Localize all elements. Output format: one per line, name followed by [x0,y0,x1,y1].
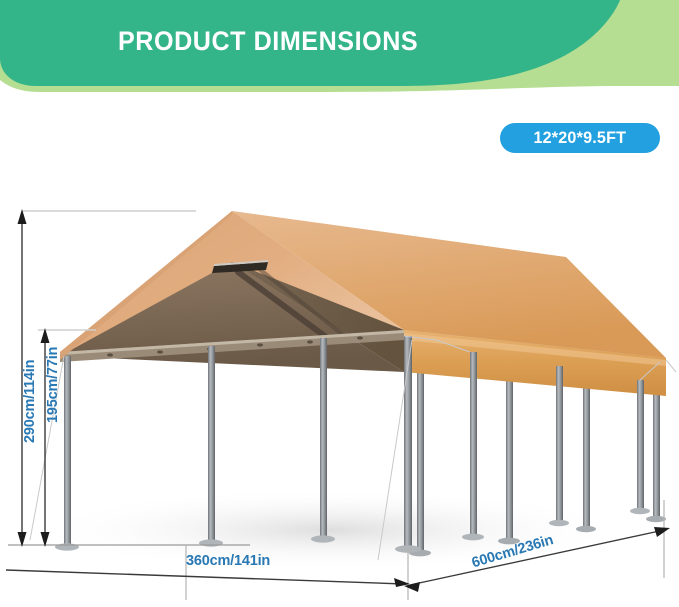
carport-illustration [0,0,679,607]
infographic-canvas: PRODUCT DIMENSIONS 12*20*9.5FT [0,0,679,607]
dimension-label-width: 360cm/141in [186,553,270,569]
arrow-width [6,570,410,587]
leg-back-4 [646,378,666,522]
canopy-roof [60,211,666,396]
leg-mid-right-3 [630,380,650,514]
dimension-label-eave-height: 195cm/77in [45,347,61,423]
dimension-label-peak-height: 290cm/114in [22,360,38,443]
ground-shadow [30,488,630,572]
